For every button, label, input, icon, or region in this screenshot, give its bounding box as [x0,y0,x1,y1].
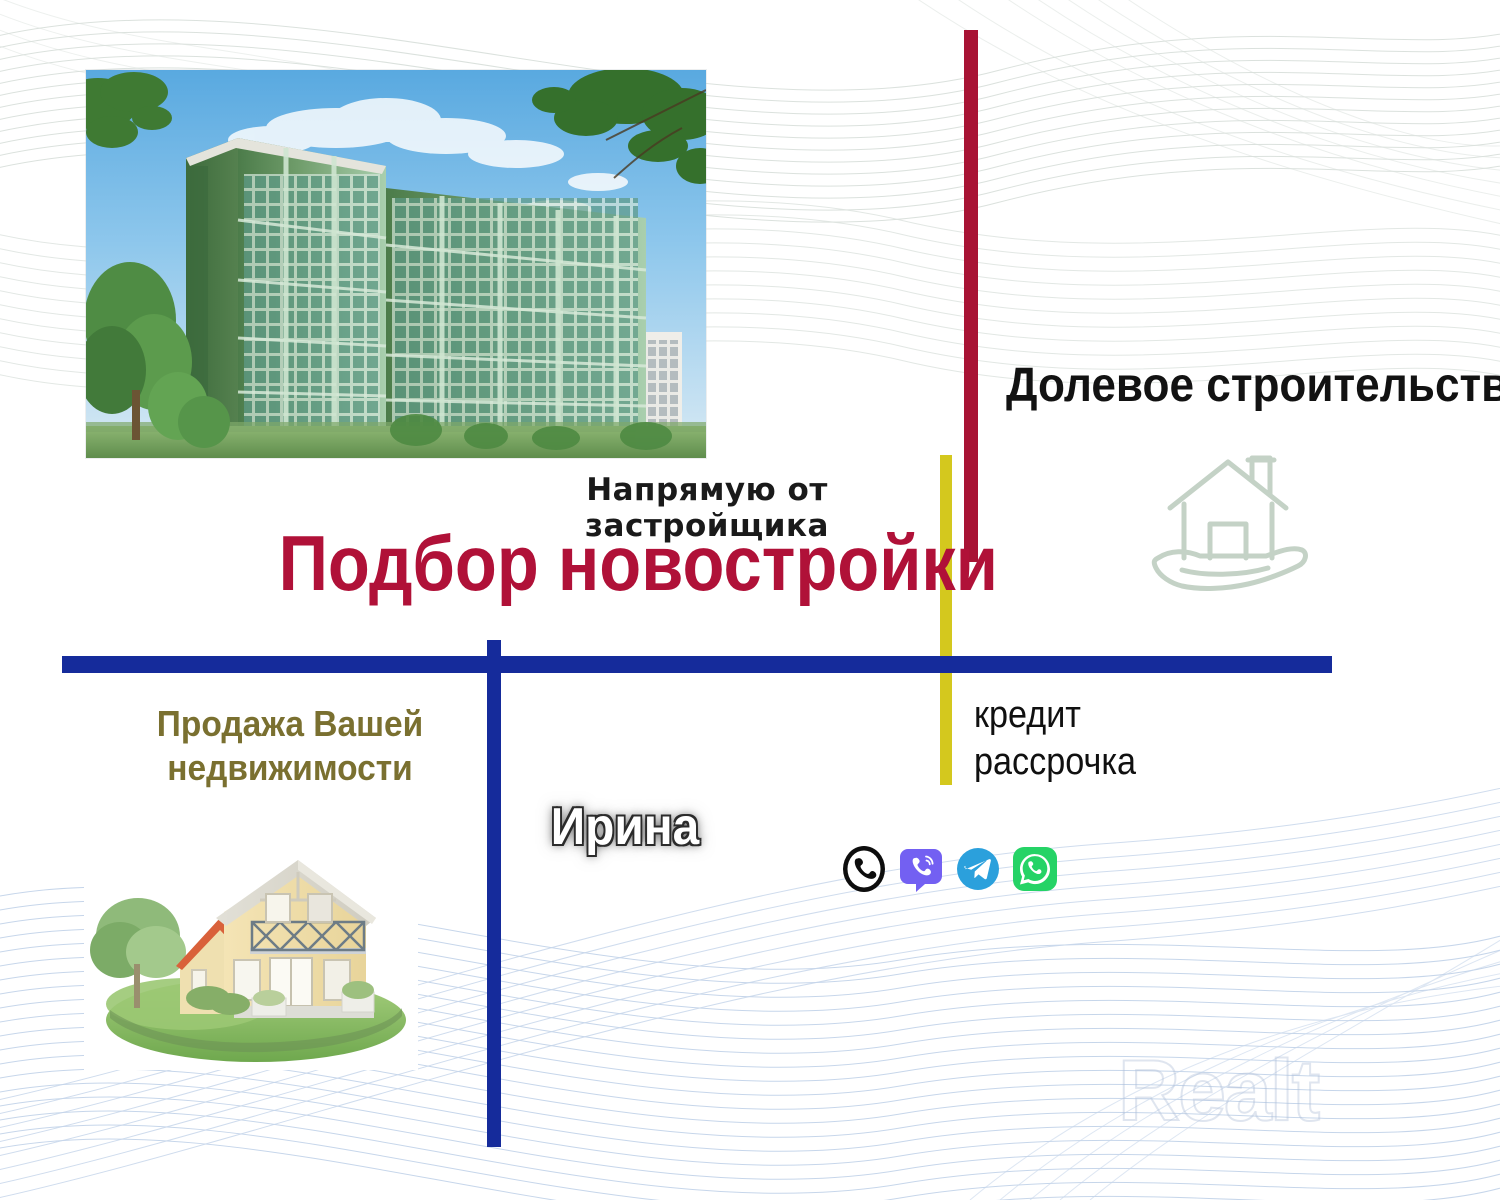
finance-options: кредит рассрочка [974,692,1136,786]
heading-shared-construction: Долевое строительство [1006,360,1411,412]
service-sell-property: Продажа Вашей недвижимости [132,702,448,790]
blue-horizontal-divider [62,656,1332,673]
contact-icons-row [840,845,1059,893]
house-in-hand-icon [1148,446,1316,606]
page-title: Подбор новостройки [279,524,904,602]
service-sell-line-2: недвижимости [132,746,448,790]
viber-icon[interactable] [897,845,945,893]
finance-credit-label: кредит [974,692,1136,739]
realt-watermark: Realt [1118,1048,1318,1134]
blue-vertical-divider [487,640,501,1147]
phone-icon[interactable] [840,845,888,893]
telegram-icon[interactable] [954,845,1002,893]
agent-name: Ирина [510,798,740,856]
crimson-vertical-divider [964,30,978,562]
newbuilding-photo [86,70,706,458]
whatsapp-icon[interactable] [1011,845,1059,893]
yellow-vertical-divider [940,455,952,785]
finance-installment-label: рассрочка [974,739,1136,786]
advertisement-poster: Напрямую от застройщика Подбор новострой… [0,0,1500,1200]
service-sell-line-1: Продажа Вашей [132,702,448,746]
cottage-photo [84,838,418,1070]
